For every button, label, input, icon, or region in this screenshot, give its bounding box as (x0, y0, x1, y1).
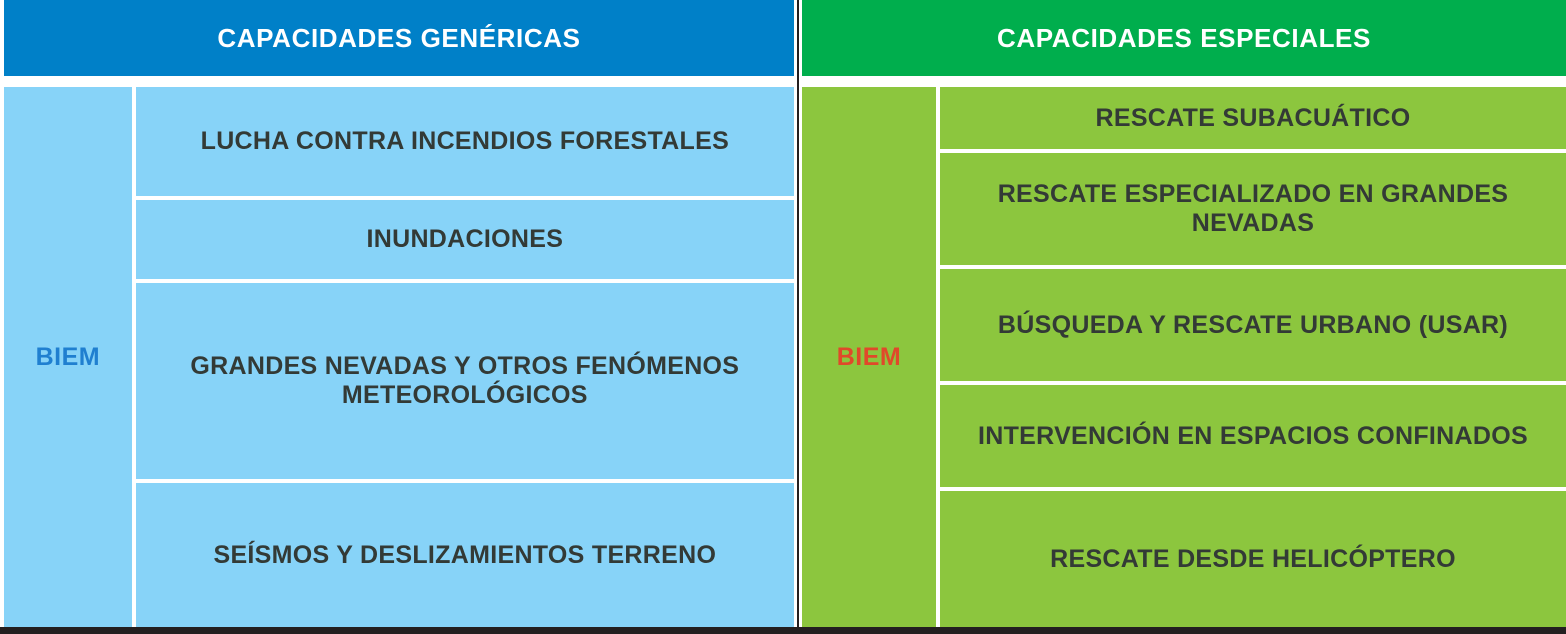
capability-row: RESCATE ESPECIALIZADO EN GRANDES NEVADAS (940, 153, 1566, 269)
capability-label: GRANDES NEVADAS Y OTROS FENÓMENOS METEOR… (150, 352, 780, 410)
bottom-edge-strip (0, 627, 1566, 634)
panel-capacidades-especiales: CAPACIDADES ESPECIALES BIEM RESCATE SUBA… (802, 0, 1566, 627)
capabilities-comparison-slide: CAPACIDADES GENÉRICAS BIEM LUCHA CONTRA … (0, 0, 1566, 634)
panel-generic-body: BIEM LUCHA CONTRA INCENDIOS FORESTALES I… (4, 87, 794, 627)
capability-row: RESCATE SUBACUÁTICO (940, 87, 1566, 153)
capability-row: SEÍSMOS Y DESLIZAMIENTOS TERRENO (136, 483, 794, 627)
capability-row: LUCHA CONTRA INCENDIOS FORESTALES (136, 87, 794, 200)
capability-label: BÚSQUEDA Y RESCATE URBANO (USAR) (954, 311, 1552, 340)
capability-row: INTERVENCIÓN EN ESPACIOS CONFINADOS (940, 385, 1566, 491)
panel-capacidades-genericas: CAPACIDADES GENÉRICAS BIEM LUCHA CONTRA … (4, 0, 794, 627)
panel-generic-rows: LUCHA CONTRA INCENDIOS FORESTALES INUNDA… (136, 87, 794, 627)
capability-label: INTERVENCIÓN EN ESPACIOS CONFINADOS (954, 422, 1552, 451)
panel-separator (797, 0, 799, 634)
capability-label: RESCATE DESDE HELICÓPTERO (954, 545, 1552, 574)
capability-row: BÚSQUEDA Y RESCATE URBANO (USAR) (940, 269, 1566, 385)
capability-label: INUNDACIONES (150, 225, 780, 254)
capability-label: RESCATE ESPECIALIZADO EN GRANDES NEVADAS (954, 180, 1552, 238)
capability-label: RESCATE SUBACUÁTICO (954, 104, 1552, 133)
capability-row: RESCATE DESDE HELICÓPTERO (940, 491, 1566, 627)
panel-generic-header: CAPACIDADES GENÉRICAS (4, 0, 794, 76)
panel-special-rows: RESCATE SUBACUÁTICO RESCATE ESPECIALIZAD… (940, 87, 1566, 627)
capability-label: SEÍSMOS Y DESLIZAMIENTOS TERRENO (150, 541, 780, 570)
capability-row: INUNDACIONES (136, 200, 794, 283)
panel-special-body: BIEM RESCATE SUBACUÁTICO RESCATE ESPECIA… (802, 87, 1566, 627)
capability-row: GRANDES NEVADAS Y OTROS FENÓMENOS METEOR… (136, 283, 794, 483)
panel-generic-unit-label: BIEM (4, 87, 136, 627)
capability-label: LUCHA CONTRA INCENDIOS FORESTALES (150, 127, 780, 156)
panel-special-unit-label: BIEM (802, 87, 940, 627)
panel-special-header: CAPACIDADES ESPECIALES (802, 0, 1566, 76)
